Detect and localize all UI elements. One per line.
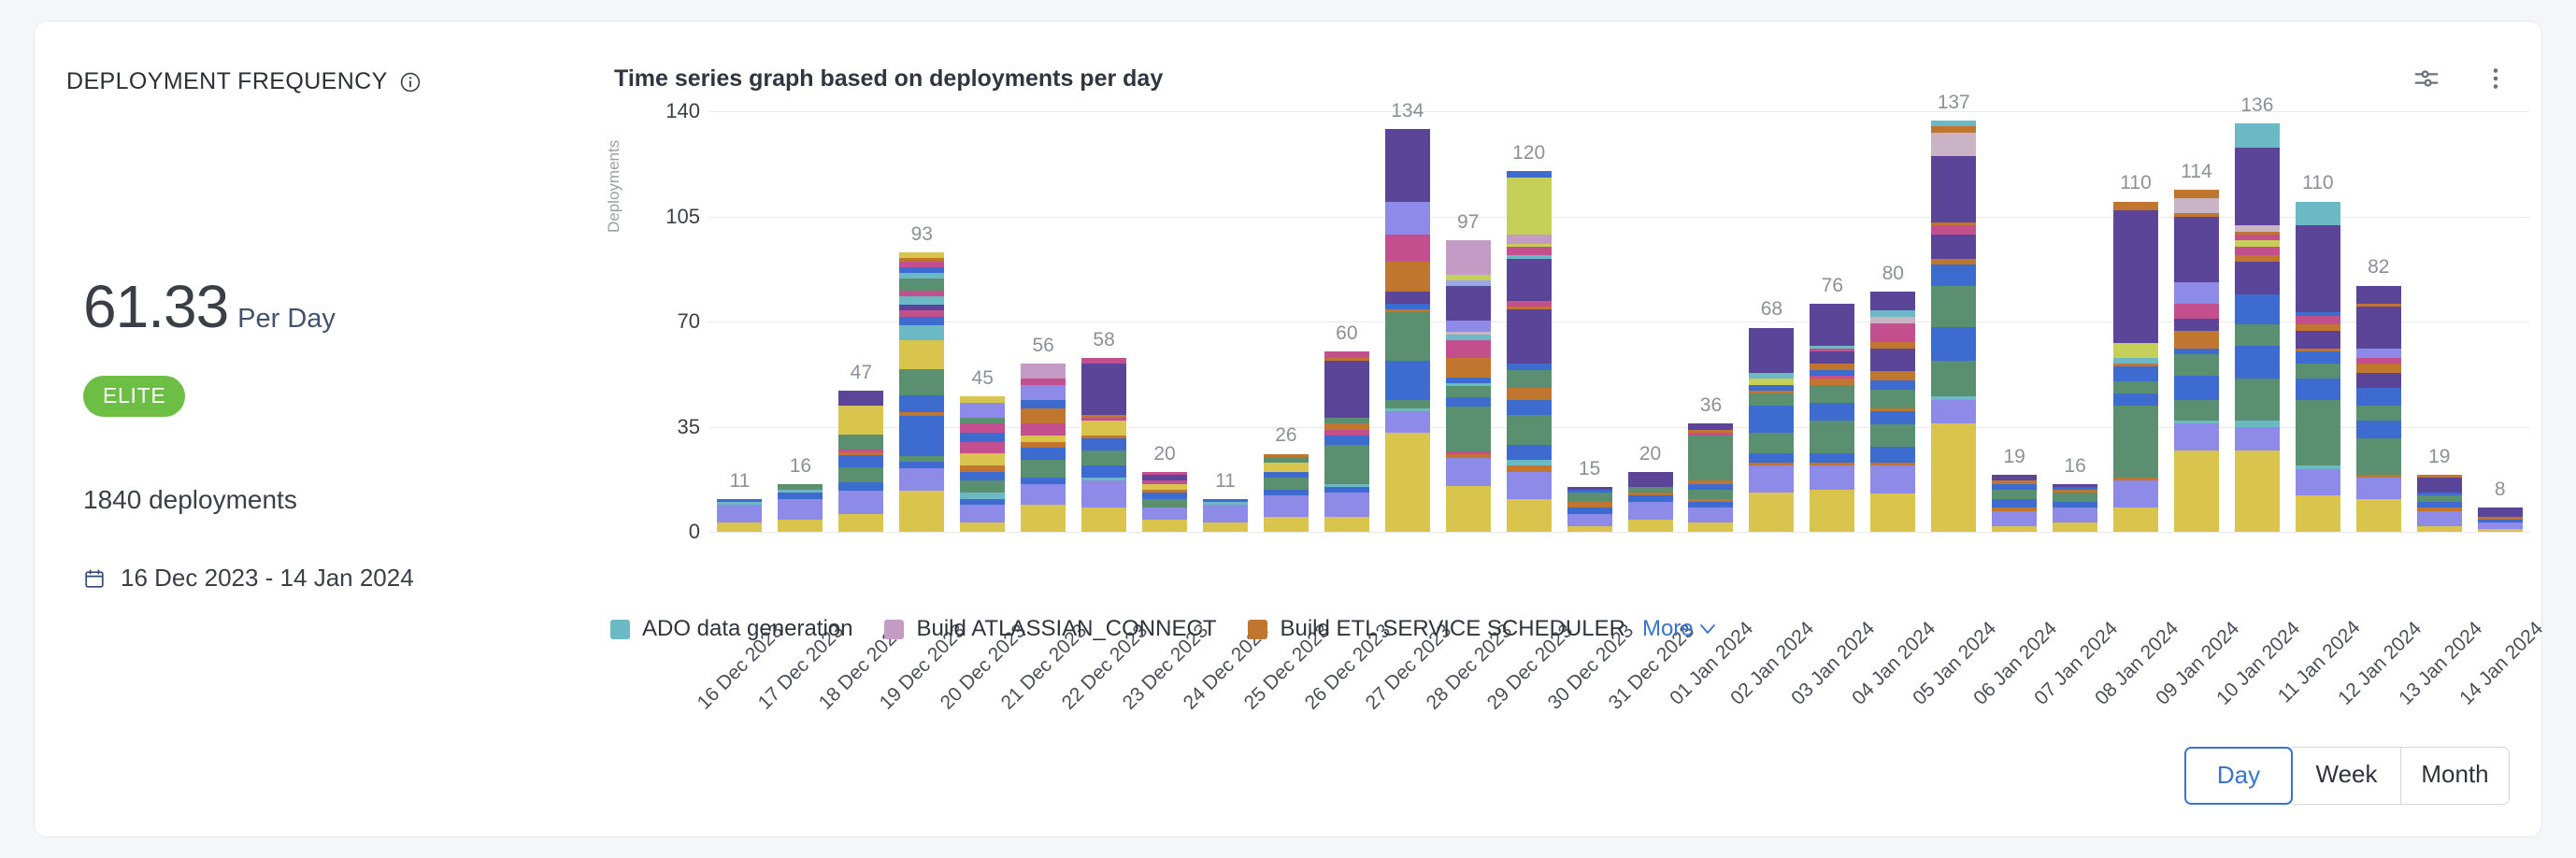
bar-segment[interactable] [1203, 505, 1248, 522]
sliders-icon[interactable] [2412, 64, 2440, 93]
bar-segment[interactable] [1264, 495, 1309, 516]
bar-segment[interactable] [1446, 286, 1491, 321]
bar-segment[interactable] [1749, 493, 1794, 532]
bar-segment[interactable] [2174, 319, 2219, 331]
x-axis-slot: 05 Jan 2024 [1924, 534, 1984, 693]
bar-segment[interactable] [2113, 202, 2158, 211]
bar-segment[interactable] [1810, 385, 1854, 403]
bar-segment[interactable] [1142, 508, 1187, 520]
bar-segment[interactable] [2235, 262, 2280, 294]
bar-segment[interactable] [1931, 400, 1976, 424]
bar-segment[interactable] [2296, 225, 2340, 312]
bar-segment[interactable] [2113, 480, 2158, 508]
bar-segment[interactable] [1385, 129, 1430, 201]
bar-segment[interactable] [2417, 526, 2462, 532]
bar-segment[interactable] [1931, 423, 1976, 532]
bar-segment[interactable] [2235, 346, 2280, 379]
bar-segment[interactable] [2235, 294, 2280, 324]
bar-segment[interactable] [2113, 343, 2158, 358]
bar-slot[interactable]: 47 [831, 111, 892, 532]
bar-segment[interactable] [899, 296, 944, 305]
bar-segment[interactable] [1507, 178, 1552, 235]
bar-segment[interactable] [1385, 202, 1430, 235]
bar-segment[interactable] [2417, 478, 2462, 493]
bar-segment[interactable] [2113, 366, 2158, 381]
bar-segment[interactable] [1081, 465, 1126, 478]
bar-segment[interactable] [838, 514, 883, 532]
bar-segment[interactable] [1931, 235, 1976, 259]
bar-segment[interactable] [1992, 499, 2037, 508]
bar-segment[interactable] [1931, 361, 1976, 397]
bar-segment[interactable] [1385, 312, 1430, 360]
date-range-row: 16 Dec 2023 - 14 Jan 2024 [83, 564, 414, 593]
bar-segment[interactable] [2356, 406, 2401, 421]
bar-segment[interactable] [1507, 400, 1552, 415]
bar-segment[interactable] [1749, 406, 1794, 433]
bar-segment[interactable] [2296, 400, 2340, 466]
x-axis-tick-label: 14 Jan 2024 [2455, 618, 2548, 710]
x-axis-slot: 04 Jan 2024 [1863, 534, 1924, 693]
bar-segment[interactable] [899, 468, 944, 492]
stacked-bar[interactable] [2356, 285, 2401, 532]
bar-segment[interactable] [1446, 240, 1491, 275]
bar-segment[interactable] [2113, 508, 2158, 532]
chart-title: Time series graph based on deployments p… [614, 65, 1163, 93]
x-axis-slot: 11 Jan 2024 [2287, 534, 2348, 693]
bar-segment[interactable] [2053, 508, 2097, 522]
bar-segment[interactable] [1931, 133, 1976, 157]
bar-slot[interactable]: 26 [1255, 111, 1316, 532]
bar-slot[interactable]: 58 [1074, 111, 1135, 532]
bar-segment[interactable] [1324, 445, 1369, 484]
stacked-bar[interactable] [1688, 423, 1733, 532]
bar-segment[interactable] [1628, 520, 1673, 532]
bar-segment[interactable] [2113, 210, 2158, 342]
bar-slot[interactable]: 134 [1377, 111, 1438, 532]
bar-segment[interactable] [960, 505, 1005, 522]
bar-segment[interactable] [1081, 450, 1126, 465]
bar-segment[interactable] [2296, 364, 2340, 379]
bar-segment[interactable] [2478, 529, 2523, 532]
bar-segment[interactable] [1810, 351, 1854, 364]
stacked-bar[interactable] [2113, 201, 2158, 532]
deployments-count: 1840 deployments [83, 485, 297, 515]
bar-segment[interactable] [1446, 407, 1491, 452]
bar-segment[interactable] [1021, 408, 1066, 423]
bar-segment[interactable] [2174, 376, 2219, 400]
bar-segment[interactable] [1385, 400, 1430, 409]
stacked-bar[interactable] [1992, 475, 2037, 532]
bar-segment[interactable] [1870, 390, 1915, 408]
bar-segment[interactable] [1567, 493, 1612, 502]
bar-segment[interactable] [1870, 371, 1915, 380]
stacked-bar[interactable] [1870, 292, 1915, 532]
bar-segment[interactable] [1446, 386, 1491, 397]
bar-segment[interactable] [1081, 480, 1126, 508]
bar-slot[interactable]: 45 [952, 111, 1013, 532]
x-axis-slot: 29 Dec 2023 [1498, 534, 1559, 693]
bar-segment[interactable] [1810, 421, 1854, 453]
bar-segment[interactable] [1142, 520, 1187, 532]
bar-slot[interactable]: 36 [1681, 111, 1741, 532]
bar-segment[interactable] [2296, 202, 2340, 226]
bar-segment[interactable] [717, 522, 762, 532]
bar-segment[interactable] [1810, 403, 1854, 421]
bar-segment[interactable] [1749, 328, 1794, 373]
bar-segment[interactable] [1870, 323, 1915, 342]
bar-segment[interactable] [1021, 423, 1066, 436]
x-axis-slot: 09 Jan 2024 [2167, 534, 2227, 693]
stacked-bar[interactable] [1142, 472, 1187, 532]
bar-segment[interactable] [1081, 421, 1126, 436]
stacked-bar[interactable] [1324, 351, 1369, 532]
y-axis-tick: 35 [678, 415, 700, 439]
stacked-bar[interactable] [717, 499, 762, 532]
bar-segment[interactable] [2356, 364, 2401, 373]
bar-segment[interactable] [960, 480, 1005, 493]
bar-segment[interactable] [1021, 385, 1066, 400]
stacked-bar[interactable] [1749, 327, 1794, 532]
bar-segment[interactable] [2417, 511, 2462, 526]
bar-segment[interactable] [2174, 304, 2219, 319]
bar-segment[interactable] [1567, 514, 1612, 526]
bar-segment[interactable] [899, 325, 944, 340]
bar-slot[interactable]: 16 [770, 111, 831, 532]
bar-slot[interactable]: 110 [2287, 111, 2348, 532]
bar-slot[interactable]: 82 [2348, 111, 2409, 532]
bar-slot[interactable]: 93 [892, 111, 952, 532]
bar-slot[interactable]: 11 [709, 111, 770, 532]
bar-segment[interactable] [2174, 423, 2219, 450]
y-axis-tick: 0 [689, 520, 700, 544]
bar-segment[interactable] [1870, 342, 1915, 349]
bar-segment[interactable] [838, 467, 883, 482]
bar-segment[interactable] [1749, 433, 1794, 453]
bar-segment[interactable] [2113, 393, 2158, 406]
bar-segment[interactable] [2235, 379, 2280, 421]
bar-segment[interactable] [1870, 349, 1915, 371]
bar-segment[interactable] [1446, 340, 1491, 357]
interval-option-week[interactable]: Week [2293, 747, 2401, 805]
stacked-bar[interactable] [838, 391, 883, 532]
stacked-bar[interactable] [1021, 364, 1066, 532]
interval-option-month[interactable]: Month [2401, 747, 2510, 805]
x-axis-slot: 03 Jan 2024 [1802, 534, 1863, 693]
legend-item[interactable]: Build ETL SERVICE SCHEDULER [1248, 616, 1624, 642]
bar-segment[interactable] [1507, 235, 1552, 244]
bar-segment[interactable] [2174, 217, 2219, 283]
bar-segment[interactable] [1264, 517, 1309, 532]
legend-label: Build ETL SERVICE SCHEDULER [1280, 616, 1624, 642]
bar-slot[interactable]: 110 [2106, 111, 2167, 532]
bar-segment[interactable] [717, 505, 762, 522]
stacked-bar[interactable] [2478, 508, 2523, 532]
bar-segment[interactable] [1810, 465, 1854, 490]
bar-slot[interactable]: 19 [2409, 111, 2469, 532]
bar-segment[interactable] [1142, 499, 1187, 508]
bar-segment[interactable] [1446, 321, 1491, 332]
bar-segment[interactable] [899, 369, 944, 395]
bar-slot[interactable]: 15 [1559, 111, 1620, 532]
bar-segment[interactable] [1385, 411, 1430, 432]
stacked-bar[interactable] [960, 396, 1005, 532]
bar-segment[interactable] [1870, 465, 1915, 493]
bar-segment[interactable] [1385, 433, 1430, 532]
legend-more-label: More [1642, 616, 1694, 642]
bar-segment[interactable] [838, 482, 883, 491]
stacked-bar[interactable] [1507, 171, 1552, 532]
bar-segment[interactable] [1870, 317, 1915, 323]
bar-segment[interactable] [2296, 495, 2340, 532]
stacked-bar[interactable] [2235, 123, 2280, 532]
bar-segment[interactable] [1931, 265, 1976, 285]
bar-segment[interactable] [1992, 490, 2037, 499]
bar-slot[interactable]: 20 [1620, 111, 1681, 532]
bar-segment[interactable] [960, 522, 1005, 532]
x-axis-slot: 26 Dec 2023 [1316, 534, 1377, 693]
bar-segment[interactable] [1203, 522, 1248, 532]
bar-segment[interactable] [960, 453, 1005, 465]
bar-segment[interactable] [2174, 282, 2219, 303]
bar-segment[interactable] [1021, 505, 1066, 532]
bar-slot[interactable]: 56 [1013, 111, 1074, 532]
bar-segment[interactable] [1749, 393, 1794, 406]
bar-segment[interactable] [838, 435, 883, 450]
bar-segment[interactable] [960, 472, 1005, 481]
bar-segment[interactable] [1688, 490, 1733, 499]
bar-segment[interactable] [1870, 292, 1915, 310]
bar-segment[interactable] [2296, 379, 2340, 399]
bar-segment[interactable] [1385, 262, 1430, 292]
bar-segment[interactable] [1628, 472, 1673, 487]
bar-segment[interactable] [2296, 316, 2340, 325]
bar-segment[interactable] [1507, 415, 1552, 445]
bar-segment[interactable] [1870, 310, 1915, 317]
interval-segmented-control[interactable]: DayWeekMonth [2184, 747, 2510, 805]
bar-segment[interactable] [1385, 235, 1430, 262]
bar-segment[interactable] [838, 455, 883, 467]
bar-segment[interactable] [1810, 453, 1854, 463]
bar-segment[interactable] [1021, 460, 1066, 478]
stacked-bar[interactable] [1385, 129, 1430, 532]
bar-segment[interactable] [2174, 331, 2219, 349]
bar-segment[interactable] [2235, 324, 2280, 345]
x-axis-slot: 12 Jan 2024 [2348, 534, 2409, 693]
bar-segment[interactable] [2296, 351, 2340, 364]
bar-segment[interactable] [838, 491, 883, 514]
bar-segment[interactable] [1931, 327, 1976, 360]
more-vertical-icon[interactable] [2482, 64, 2510, 93]
bar-segment[interactable] [1992, 526, 2037, 532]
bar-slot[interactable]: 68 [1741, 111, 1802, 532]
stacked-bar[interactable] [1567, 487, 1612, 532]
bar-segment[interactable] [2356, 286, 2401, 304]
bar-segment[interactable] [1507, 445, 1552, 460]
bar-segment[interactable] [2356, 349, 2401, 358]
bar-segment[interactable] [1870, 380, 1915, 390]
bar-segment[interactable] [899, 340, 944, 369]
bar-segment[interactable] [899, 317, 944, 325]
bar-segment[interactable] [899, 279, 944, 290]
bar-segment[interactable] [1931, 156, 1976, 222]
bar-segment[interactable] [1081, 438, 1126, 450]
bar-segment[interactable] [1870, 424, 1915, 447]
bar-slot[interactable]: 76 [1802, 111, 1863, 532]
bar-segment[interactable] [2174, 354, 2219, 375]
bar-segment[interactable] [1507, 370, 1552, 388]
bar-segment[interactable] [2356, 478, 2401, 498]
bar-segment[interactable] [2053, 493, 2097, 502]
bar-segment[interactable] [1507, 388, 1552, 400]
bar-segment[interactable] [1081, 364, 1126, 415]
bar-segment[interactable] [1324, 517, 1369, 532]
bar-segment[interactable] [2235, 247, 2280, 256]
bar-slot[interactable]: 19 [1984, 111, 2045, 532]
bar-segment[interactable] [1870, 447, 1915, 463]
x-axis-slot: 13 Jan 2024 [2409, 534, 2469, 693]
legend-item[interactable]: ADO data generation [610, 616, 852, 642]
stacked-bar[interactable] [1628, 472, 1673, 532]
bar-segment[interactable] [960, 403, 1005, 418]
stacked-bar[interactable] [1446, 240, 1491, 532]
stacked-bar[interactable] [2174, 190, 2219, 532]
stacked-bar[interactable] [899, 252, 944, 532]
bar-segment[interactable] [1507, 499, 1552, 532]
bar-slot[interactable]: 114 [2167, 111, 2227, 532]
bar-segment[interactable] [960, 433, 1005, 442]
legend-more-link[interactable]: More [1642, 616, 1716, 642]
bar-segment[interactable] [1385, 292, 1430, 304]
stacked-bar[interactable] [1264, 453, 1309, 532]
stacked-bar[interactable] [1931, 121, 1976, 532]
bar-segment[interactable] [1749, 453, 1794, 463]
bar-segment[interactable] [1870, 411, 1915, 424]
bar-segment[interactable] [1081, 508, 1126, 532]
bar-segment[interactable] [2478, 508, 2523, 517]
bar-segment[interactable] [2174, 198, 2219, 213]
bar-segment[interactable] [2356, 438, 2401, 475]
bar-segment[interactable] [1688, 436, 1733, 480]
bar-segment[interactable] [1446, 397, 1491, 406]
bar-segment[interactable] [1810, 304, 1854, 346]
bar-segment[interactable] [960, 442, 1005, 454]
bar-segment[interactable] [1628, 502, 1673, 520]
x-axis-slot: 21 Dec 2023 [1013, 534, 1074, 693]
bar-segment[interactable] [1385, 361, 1430, 400]
bar-segment[interactable] [1507, 247, 1552, 256]
bar-segment[interactable] [2235, 450, 2280, 532]
bar-segment[interactable] [1446, 458, 1491, 487]
bar-slot[interactable]: 136 [2226, 111, 2287, 532]
bar-segment[interactable] [1021, 400, 1066, 409]
x-axis-labels: 16 Dec 202317 Dec 202318 Dec 202319 Dec … [709, 534, 2530, 693]
bar-segment[interactable] [1264, 463, 1309, 472]
bar-segment[interactable] [2235, 427, 2280, 451]
bar-slot[interactable]: 11 [1195, 111, 1256, 532]
bar-segment[interactable] [1446, 486, 1491, 532]
bar-segment[interactable] [1567, 526, 1612, 532]
bar-segment[interactable] [1931, 286, 1976, 328]
info-icon[interactable] [399, 71, 422, 93]
bar-segment[interactable] [2053, 522, 2097, 532]
bar-segment[interactable] [2235, 123, 2280, 148]
bar-segment[interactable] [2356, 307, 2401, 349]
bar-segment[interactable] [1749, 465, 1794, 493]
bar-segment[interactable] [899, 491, 944, 532]
bar-segment[interactable] [1324, 493, 1369, 517]
primary-metric: 61.33 Per Day [83, 272, 336, 341]
bar-segment[interactable] [2113, 406, 2158, 478]
bar-segment[interactable] [1446, 358, 1491, 378]
bar-segment[interactable] [2174, 190, 2219, 199]
stacked-bar[interactable] [1810, 304, 1854, 532]
bar-segment[interactable] [899, 416, 944, 457]
bar-segment[interactable] [1688, 522, 1733, 532]
interval-option-day[interactable]: Day [2184, 747, 2293, 805]
bar-segment[interactable] [1021, 448, 1066, 460]
bar-slot[interactable]: 97 [1438, 111, 1498, 532]
bar-segment[interactable] [2113, 381, 2158, 393]
bar-slot[interactable]: 8 [2469, 111, 2530, 532]
bar-segment[interactable] [1931, 225, 1976, 235]
bar-segment[interactable] [899, 395, 944, 413]
bar-segment[interactable] [1324, 361, 1369, 418]
bar-slot[interactable]: 60 [1316, 111, 1377, 532]
bar-segment[interactable] [2356, 373, 2401, 388]
bar-segment[interactable] [838, 406, 883, 435]
bar-segment[interactable] [838, 391, 883, 406]
bar-segment[interactable] [1021, 364, 1066, 379]
bar-segment[interactable] [1021, 484, 1066, 506]
bar-segment[interactable] [1870, 493, 1915, 532]
bar-segment[interactable] [1324, 436, 1369, 445]
stacked-bar[interactable] [1081, 358, 1126, 532]
stacked-bar[interactable] [2053, 484, 2097, 532]
bar-segment[interactable] [1810, 490, 1854, 532]
bar-segment[interactable] [1507, 259, 1552, 301]
chevron-down-icon [1699, 623, 1716, 635]
legend-label: ADO data generation [642, 616, 852, 642]
bar-segment[interactable] [2356, 499, 2401, 532]
bar-segment[interactable] [1507, 309, 1552, 364]
bar-segment[interactable] [1992, 511, 2037, 526]
bar-segment[interactable] [778, 499, 823, 520]
bar-slot[interactable]: 16 [2045, 111, 2106, 532]
bar-slot[interactable]: 20 [1135, 111, 1195, 532]
bar-slot[interactable]: 80 [1863, 111, 1924, 532]
bar-segment[interactable] [1688, 508, 1733, 522]
stacked-bar[interactable] [2417, 475, 2462, 532]
bar-segment[interactable] [2296, 469, 2340, 496]
bar-segment[interactable] [778, 520, 823, 532]
stacked-bar[interactable] [2296, 201, 2340, 532]
bar-segment[interactable] [960, 423, 1005, 433]
bar-slot[interactable]: 120 [1498, 111, 1559, 532]
bar-slot[interactable]: 137 [1924, 111, 1984, 532]
stacked-bar[interactable] [778, 484, 823, 532]
legend-item[interactable]: Build ATLASSIAN_CONNECT [884, 616, 1216, 642]
bar-segment[interactable] [2235, 148, 2280, 226]
bar-segment[interactable] [1264, 478, 1309, 490]
bar-segment[interactable] [2174, 450, 2219, 532]
bar-segment[interactable] [2174, 400, 2219, 421]
bar-segment[interactable] [1507, 472, 1552, 499]
plot-area: Deployments 03570105140 1116479345565820… [595, 111, 2543, 532]
stacked-bar[interactable] [1203, 499, 1248, 532]
bar-segment[interactable] [2296, 331, 2340, 349]
bar-segment[interactable] [2356, 388, 2401, 406]
bar-segment[interactable] [2356, 421, 2401, 438]
